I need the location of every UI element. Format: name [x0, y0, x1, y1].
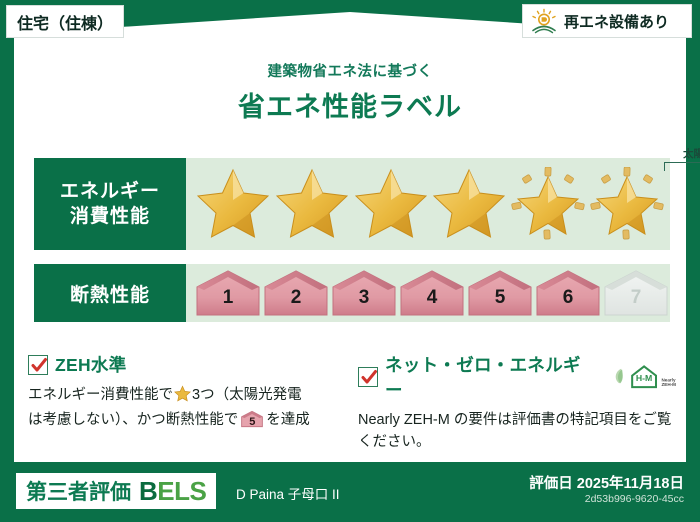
inline-house-icon: 5: [240, 410, 264, 428]
net-zero-checkbox[interactable]: [358, 367, 378, 387]
energy-label-line1: エネルギー: [60, 179, 160, 204]
solar-annotation: 太陽光発電(自家消費)分: [656, 146, 700, 178]
insulation-label-text: 断熱性能: [70, 280, 150, 307]
energy-label-line2: 消費性能: [70, 204, 150, 229]
renewable-badge-label: 再エネ設備あり: [564, 11, 669, 32]
third-party-label: 第三者評価: [26, 476, 131, 506]
energy-star-rating: [194, 158, 666, 250]
inline-house-number: 5: [240, 414, 264, 431]
energy-stars-band: 太陽光発電(自家消費)分: [186, 158, 670, 250]
zeh-desc-part2: は考慮しない）、かつ断熱性能で: [28, 412, 238, 428]
insulation-houses-band: 1 2 3: [186, 264, 670, 322]
renewable-energy-badge: 再エネ設備あり: [522, 4, 692, 38]
title-block: 建築物省エネ法に基づく 省エネ性能ラベル: [0, 60, 700, 124]
bels-logo-part1: B: [139, 476, 157, 506]
energy-performance-row: エネルギー 消費性能 太陽光発電(自家消費)分: [34, 158, 670, 250]
check-icon: [360, 368, 378, 386]
bels-logo-part2: ELS: [157, 476, 206, 506]
building-type-tag-label: 住宅（住棟）: [17, 10, 113, 34]
evaluation-date-value: 2025年11月18日: [577, 476, 684, 492]
zeh-m-logo: H-M Nearly ZEH-M: [612, 363, 678, 391]
zeh-title: ZEH水準: [55, 352, 127, 377]
star-6-solar: [587, 163, 666, 245]
insulation-performance-row: 断熱性能: [34, 264, 670, 322]
star-5-solar: [509, 163, 588, 245]
star-2: [273, 163, 352, 245]
check-icon: [30, 356, 48, 374]
bels-plate: 第三者評価 BELS: [16, 473, 216, 509]
insulation-rating-scale: 1 2 3: [194, 264, 670, 322]
insulation-performance-label: 断熱性能: [34, 264, 186, 322]
net-zero-description: Nearly ZEH-M の要件は評価書の特記項目をご覧ください。: [358, 409, 678, 453]
net-zero-heading: ネット・ゼロ・エネルギー H-M Nearly ZEH-M: [358, 352, 678, 402]
house-6: 6: [534, 267, 602, 319]
evaluation-date: 評価日 2025年11月18日: [464, 472, 684, 493]
footer-bar: 第三者評価 BELS D Paina 子母口 II 評価日 2025年11月18…: [0, 462, 700, 522]
building-name: D Paina 子母口 II: [236, 483, 340, 503]
net-zero-title: ネット・ゼロ・エネルギー: [385, 352, 597, 402]
net-zero-energy-section: ネット・ゼロ・エネルギー H-M Nearly ZEH-M Nearly ZEH…: [358, 352, 678, 453]
star-3: [351, 163, 430, 245]
zeh-desc-star-count: 3つ（太陽光発電: [192, 387, 302, 403]
house-3: 3: [330, 267, 398, 319]
zeh-m-logo-main: H-M: [636, 373, 652, 383]
zeh-desc-part1: エネルギー消費性能で: [28, 387, 173, 403]
solar-annotation-label: 太陽光発電(自家消費)分: [656, 146, 700, 161]
star-1: [194, 163, 273, 245]
house-1: 1: [194, 267, 262, 319]
house-7: 7: [602, 267, 670, 319]
inline-star-icon: [174, 385, 191, 409]
zeh-description: エネルギー消費性能で3つ（太陽光発電 は考慮しない）、かつ断熱性能で5を達成: [28, 384, 344, 431]
zeh-standard-section: ZEH水準 エネルギー消費性能で3つ（太陽光発電 は考慮しない）、かつ断熱性能で…: [28, 352, 344, 431]
building-type-tag: 住宅（住棟）: [6, 5, 124, 38]
page-title: 省エネ性能ラベル: [0, 85, 700, 124]
title-subtitle: 建築物省エネ法に基づく: [0, 60, 700, 81]
evaluation-date-label: 評価日: [529, 476, 573, 492]
zeh-checkbox[interactable]: [28, 355, 48, 375]
zeh-heading: ZEH水準: [28, 352, 344, 377]
evaluation-id: 2d53b996-9620-45cc: [464, 493, 684, 505]
zeh-m-logo-sub2: ZEH-M: [662, 382, 677, 387]
energy-performance-label: 住宅（住棟） 再エネ設備あり 建築物省エネ法に基づく 省エネ性能ラベル: [0, 0, 700, 522]
house-4: 4: [398, 267, 466, 319]
zeh-desc-part3: を達成: [266, 412, 310, 428]
bels-logo: BELS: [139, 476, 206, 507]
house-5: 5: [466, 267, 534, 319]
house-2: 2: [262, 267, 330, 319]
energy-performance-label: エネルギー 消費性能: [34, 158, 186, 250]
star-4: [430, 163, 509, 245]
solar-sun-icon: [529, 8, 559, 34]
solar-annotation-bracket: [664, 162, 700, 171]
